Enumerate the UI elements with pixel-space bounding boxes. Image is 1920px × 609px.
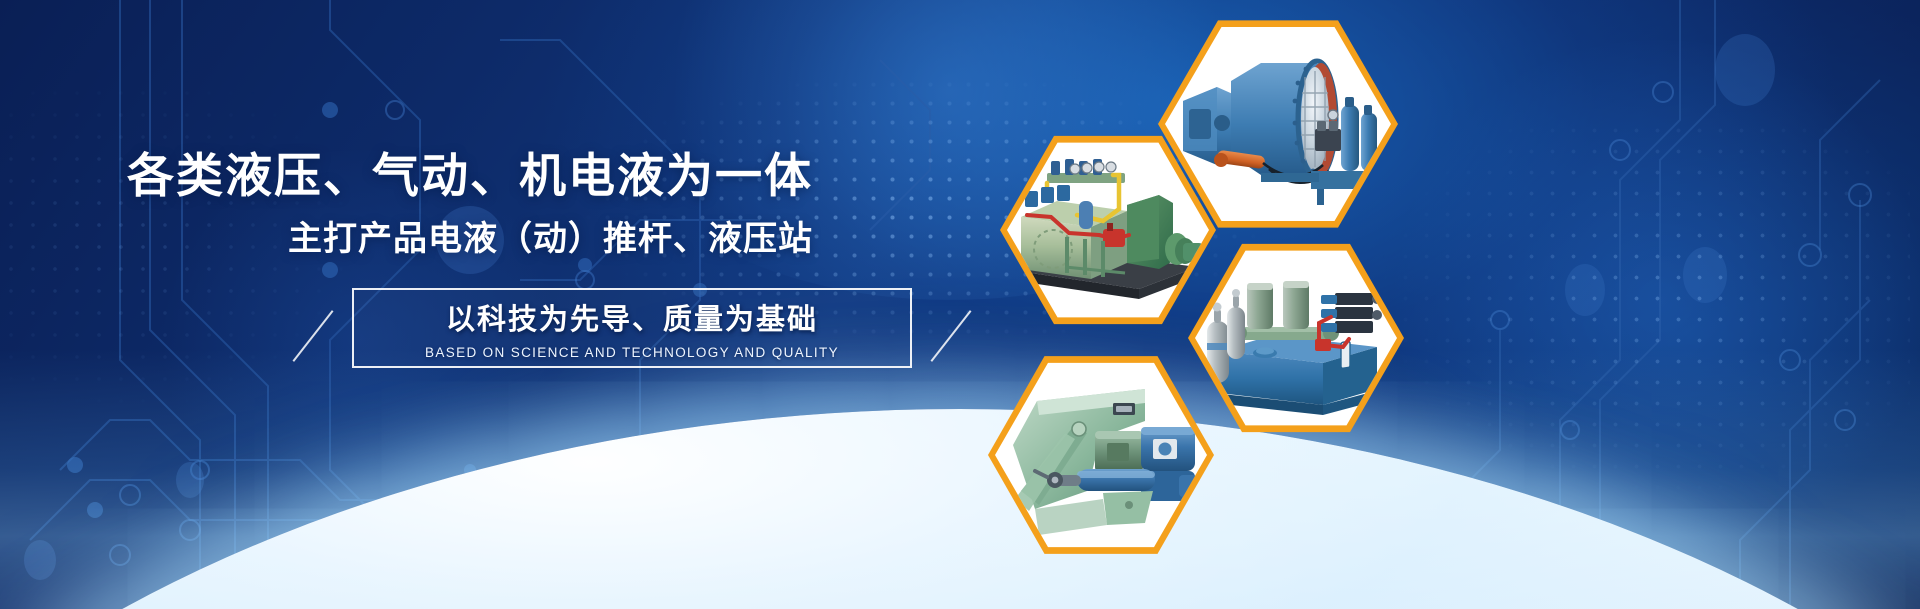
hero-banner: 各类液压、气动、机电液为一体 主打产品电液（动）推杆、液压站 以科技为先导、质量… (0, 0, 1920, 609)
product-image-power-unit (1195, 247, 1397, 429)
slogan-english: BASED ON SCIENCE AND TECHNOLOGY AND QUAL… (425, 345, 839, 360)
subheadline-text: 主打产品电液（动）推杆、液压站 (0, 219, 960, 260)
product-image-push-rod (995, 359, 1207, 551)
headline-block: 各类液压、气动、机电液为一体 主打产品电液（动）推杆、液压站 (0, 148, 960, 260)
headline-text: 各类液压、气动、机电液为一体 (0, 148, 960, 203)
slogan-box: 以科技为先导、质量为基础 BASED ON SCIENCE AND TECHNO… (352, 288, 912, 368)
slogan-chinese: 以科技为先导、质量为基础 (446, 296, 818, 338)
accent-slash-right (931, 310, 972, 362)
product-image-pump-station (1007, 139, 1209, 321)
product-hexagon-power-unit[interactable] (1188, 240, 1404, 436)
slogan-block: 以科技为先导、质量为基础 BASED ON SCIENCE AND TECHNO… (352, 288, 912, 368)
